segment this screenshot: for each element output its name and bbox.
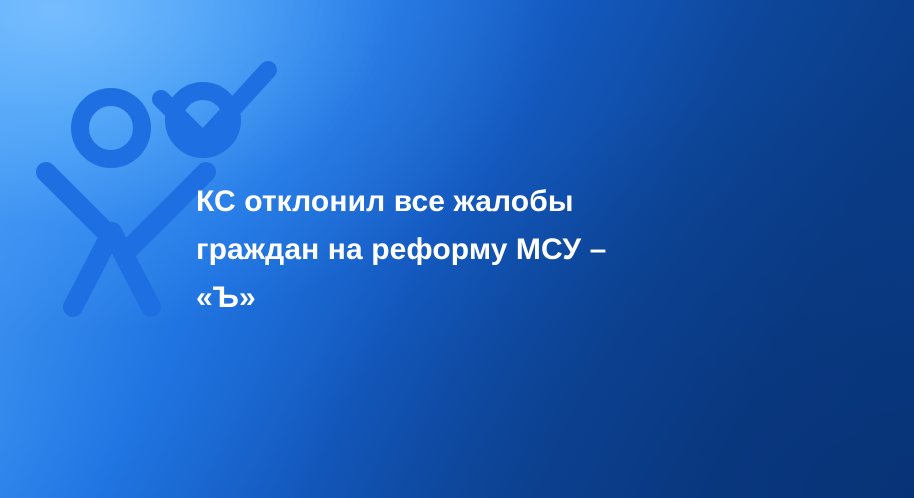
left-eye-ring-icon bbox=[80, 97, 142, 159]
headline-text: КС отклонил все жалобы граждан на реформ… bbox=[196, 178, 756, 322]
share-card: КС отклонил все жалобы граждан на реформ… bbox=[0, 0, 914, 498]
